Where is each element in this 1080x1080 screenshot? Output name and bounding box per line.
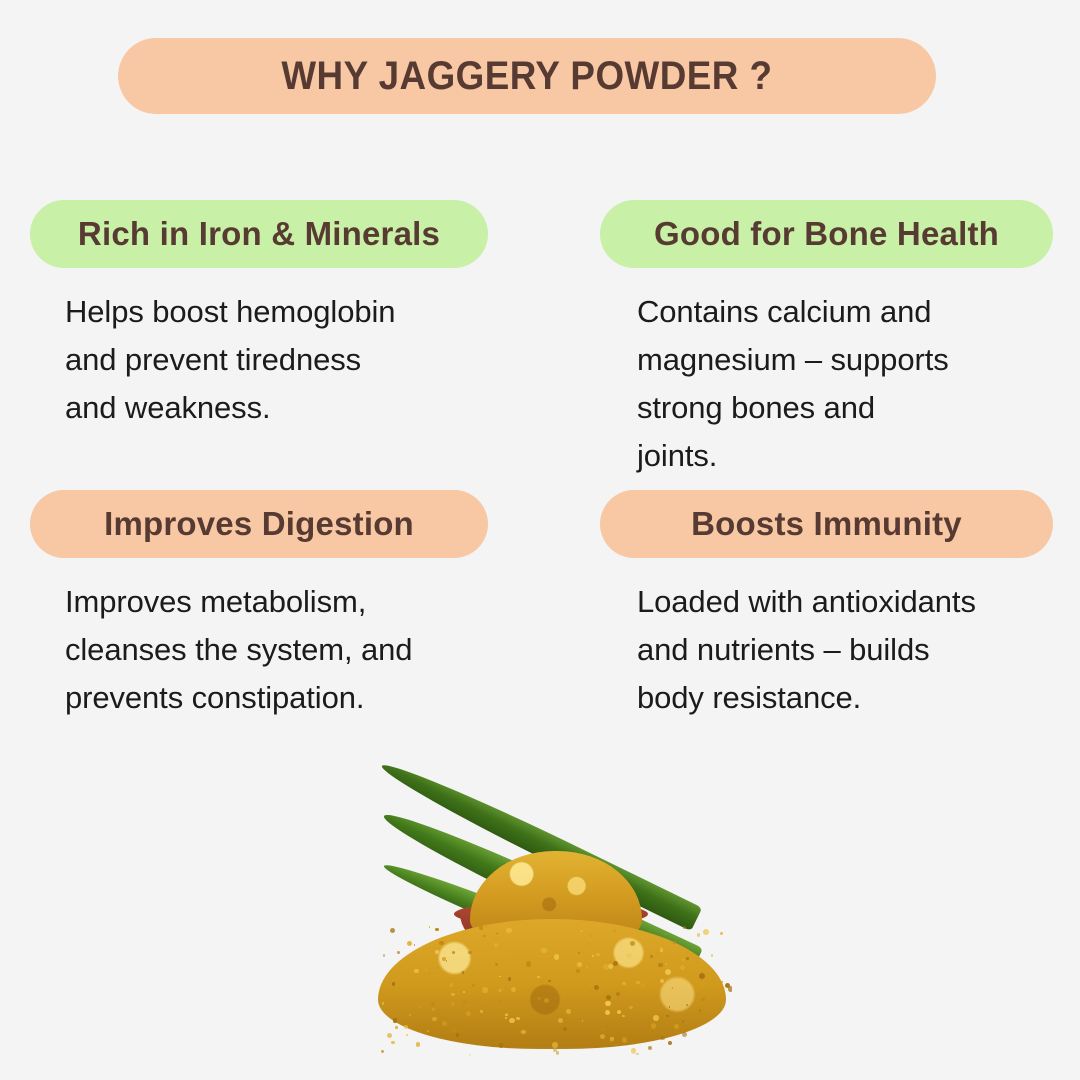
photo-canvas bbox=[372, 733, 732, 1073]
benefit-card-improves-digestion: Improves Digestion Improves metabolism, … bbox=[30, 490, 550, 722]
powder-grain bbox=[622, 1037, 627, 1042]
powder-grain bbox=[484, 924, 487, 927]
powder-grain bbox=[616, 992, 620, 996]
powder-grain bbox=[429, 926, 431, 928]
powder-grain bbox=[601, 1027, 605, 1031]
powder-grain bbox=[511, 987, 516, 992]
powder-grain bbox=[383, 954, 386, 957]
powder-grain bbox=[653, 1015, 659, 1021]
benefit-heading-label: Rich in Iron & Minerals bbox=[78, 215, 440, 253]
benefit-body-text: Contains calcium and magnesium – support… bbox=[600, 288, 1080, 480]
powder-grain bbox=[699, 1009, 701, 1011]
powder-grain bbox=[640, 982, 646, 988]
powder-grain bbox=[576, 969, 580, 973]
powder-grain bbox=[668, 1041, 672, 1045]
powder-grain bbox=[397, 951, 400, 954]
benefit-heading-pill-bone-health: Good for Bone Health bbox=[600, 200, 1053, 268]
powder-grain bbox=[660, 947, 663, 950]
powder-grain bbox=[506, 928, 512, 934]
powder-grain bbox=[432, 1008, 435, 1011]
powder-grain bbox=[711, 954, 714, 957]
powder-grain bbox=[505, 1014, 507, 1016]
benefit-heading-label: Improves Digestion bbox=[104, 505, 414, 543]
powder-grain bbox=[613, 961, 618, 966]
powder-grain bbox=[393, 1018, 398, 1023]
benefit-card-boosts-immunity: Boosts Immunity Loaded with antioxidants… bbox=[600, 490, 1080, 722]
powder-grain bbox=[435, 928, 439, 932]
powder-grain bbox=[636, 981, 640, 985]
powder-grain bbox=[442, 957, 446, 961]
powder-grain bbox=[577, 962, 582, 967]
powder-grain bbox=[450, 983, 453, 986]
powder-grain bbox=[459, 975, 465, 981]
powder-grain bbox=[419, 1006, 421, 1008]
powder-grain bbox=[406, 1034, 408, 1036]
page-title: WHY JAGGERY POWDER ? bbox=[281, 54, 772, 99]
powder-grain bbox=[521, 1030, 526, 1035]
benefit-heading-label: Good for Bone Health bbox=[654, 215, 999, 253]
powder-grain bbox=[498, 1000, 501, 1003]
powder-grain bbox=[463, 1000, 467, 1004]
benefit-body-text: Improves metabolism, cleanses the system… bbox=[30, 578, 550, 722]
benefit-body-text: Loaded with antioxidants and nutrients –… bbox=[600, 578, 1080, 722]
powder-grain bbox=[462, 971, 465, 974]
powder-grain bbox=[610, 1039, 612, 1041]
powder-grain bbox=[609, 959, 612, 962]
benefit-card-bone-health: Good for Bone Health Contains calcium an… bbox=[600, 200, 1080, 480]
powder-grain bbox=[435, 950, 439, 954]
powder-grain bbox=[392, 982, 395, 985]
powder-grain bbox=[622, 982, 625, 985]
powder-grain bbox=[686, 1004, 688, 1006]
powder-grain bbox=[516, 1017, 519, 1020]
powder-grain bbox=[440, 965, 442, 967]
benefit-heading-pill-rich-in-iron: Rich in Iron & Minerals bbox=[30, 200, 488, 268]
powder-grain bbox=[382, 1002, 385, 1005]
powder-grain bbox=[699, 973, 705, 979]
powder-grain bbox=[414, 944, 416, 946]
powder-grain bbox=[682, 1032, 687, 1037]
powder-grain bbox=[682, 959, 684, 961]
powder-grain bbox=[480, 1010, 482, 1012]
benefit-card-rich-in-iron: Rich in Iron & Minerals Helps boost hemo… bbox=[30, 200, 550, 432]
powder-grain bbox=[696, 961, 698, 963]
powder-grain bbox=[697, 933, 701, 937]
benefit-heading-pill-boosts-immunity: Boosts Immunity bbox=[600, 490, 1053, 558]
powder-grain bbox=[674, 1024, 679, 1029]
powder-grain bbox=[703, 929, 709, 935]
powder-grain bbox=[617, 1010, 621, 1014]
powder-grain bbox=[665, 969, 671, 975]
powder-grain bbox=[407, 941, 412, 946]
powder-grain bbox=[626, 953, 631, 958]
powder-grain bbox=[432, 1017, 437, 1022]
powder-grain bbox=[629, 1006, 632, 1009]
benefit-heading-label: Boosts Immunity bbox=[691, 505, 962, 543]
powder-grain bbox=[509, 1018, 514, 1023]
powder-grain bbox=[720, 932, 723, 935]
infographic-root: WHY JAGGERY POWDER ? Rich in Iron & Mine… bbox=[0, 0, 1080, 1080]
powder-grain bbox=[666, 1015, 668, 1017]
powder-grain bbox=[395, 1026, 398, 1029]
powder-grain bbox=[554, 954, 559, 959]
powder-grain bbox=[390, 928, 395, 933]
powder-grain bbox=[414, 969, 419, 974]
powder-grain bbox=[673, 941, 676, 944]
powder-grain bbox=[587, 943, 589, 945]
powder-grain bbox=[472, 984, 475, 987]
powder-grain bbox=[656, 951, 661, 956]
powder-grain bbox=[650, 955, 653, 958]
powder-grain bbox=[391, 1041, 394, 1044]
jaggery-powder-photo bbox=[372, 733, 732, 1073]
powder-grain bbox=[600, 1034, 605, 1039]
benefit-heading-pill-improves-digestion: Improves Digestion bbox=[30, 490, 488, 558]
powder-grain bbox=[682, 1020, 685, 1023]
powder-grain bbox=[456, 1033, 459, 1036]
photo-bottom-fade bbox=[372, 1047, 732, 1073]
powder-grain bbox=[651, 1023, 656, 1028]
powder-grain bbox=[721, 981, 723, 983]
powder-grain bbox=[537, 997, 541, 1001]
powder-grain bbox=[563, 1027, 567, 1031]
powder-grain bbox=[622, 1015, 624, 1017]
powder-grain bbox=[387, 1033, 392, 1038]
powder-grain bbox=[558, 1018, 563, 1023]
powder-grain bbox=[548, 980, 551, 983]
powder-grain bbox=[422, 963, 424, 965]
powder-grain bbox=[660, 1036, 665, 1041]
powder-grain bbox=[437, 967, 439, 969]
benefit-body-text: Helps boost hemoglobin and prevent tired… bbox=[30, 288, 550, 432]
powder-grain bbox=[482, 987, 487, 992]
powder-grain bbox=[466, 1011, 471, 1016]
page-title-pill: WHY JAGGERY POWDER ? bbox=[118, 38, 936, 114]
powder-grain bbox=[479, 926, 482, 929]
powder-grain bbox=[578, 952, 580, 954]
powder-grain bbox=[451, 1002, 454, 1005]
powder-grain bbox=[701, 998, 705, 1002]
